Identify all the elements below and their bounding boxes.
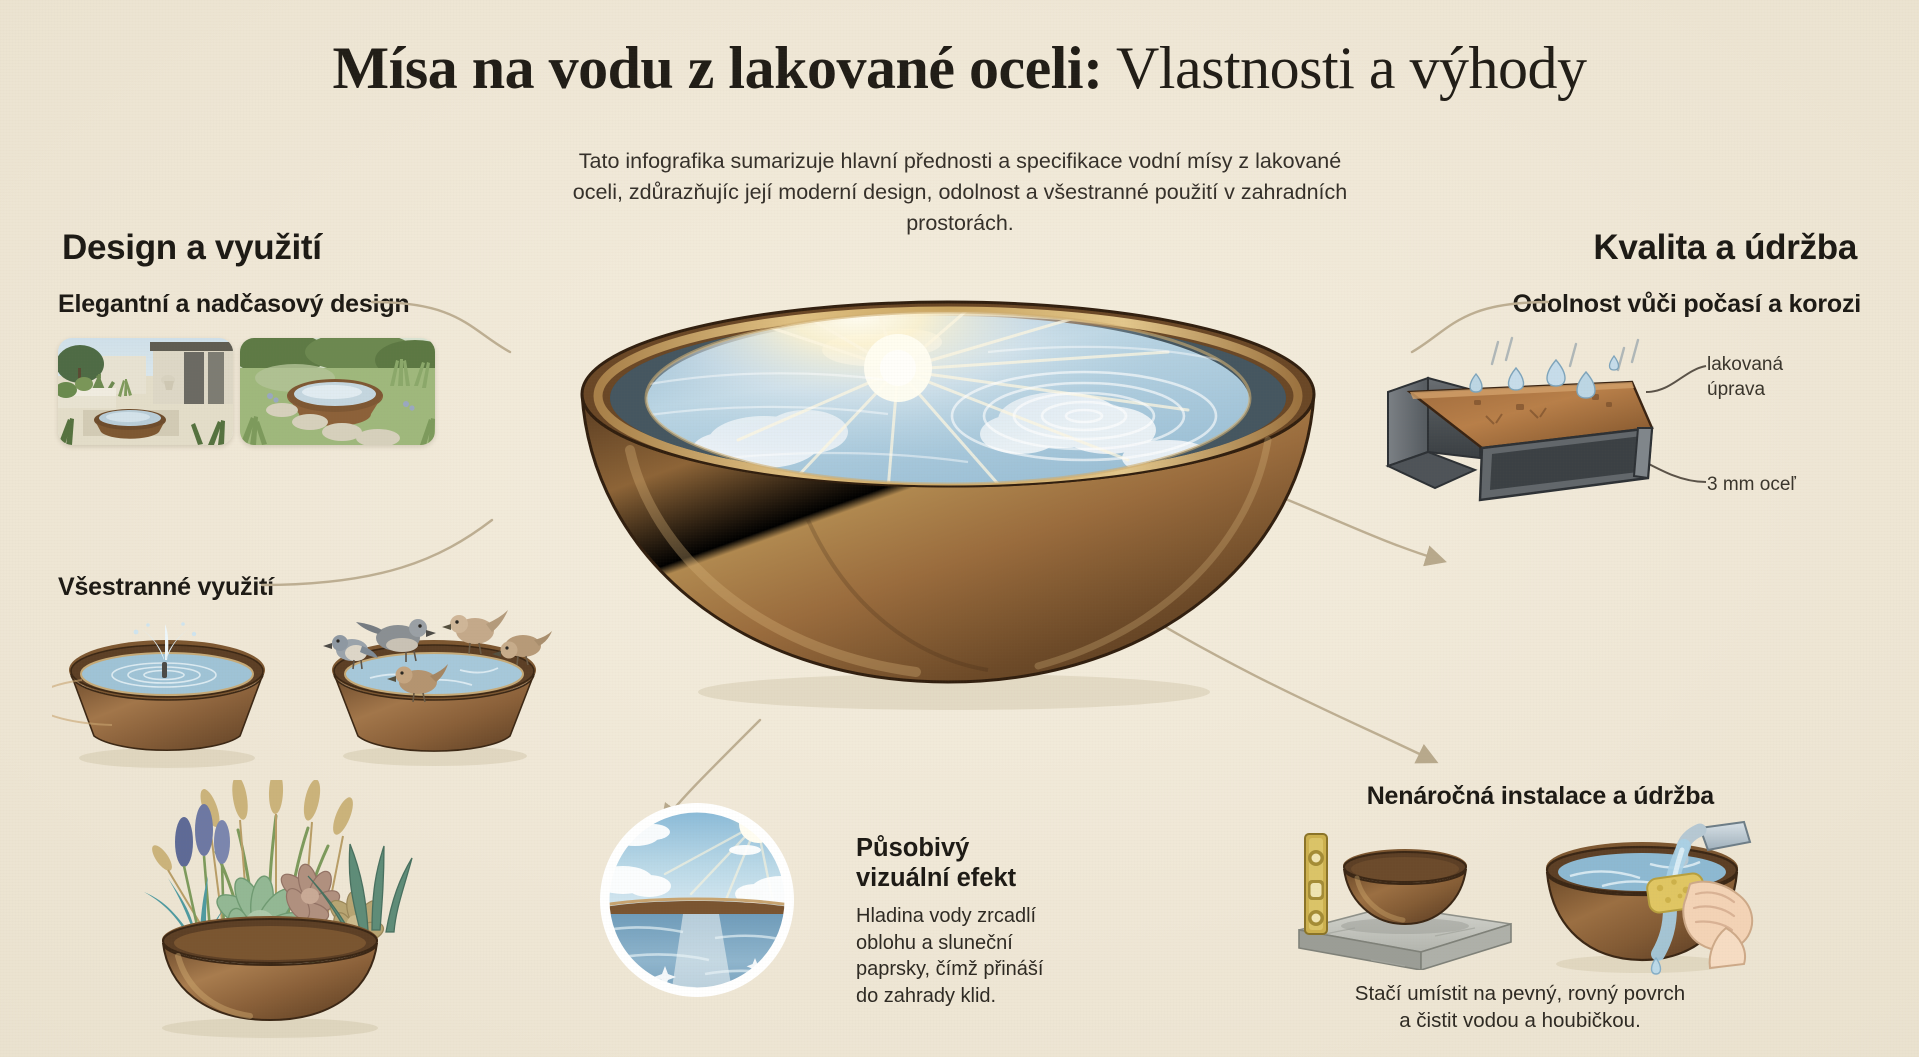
subheading-elegant-design: Elegantní a nadčasový design bbox=[58, 290, 409, 319]
visual-effect-body: Hladina vody zrcadlí oblohu a sluneční p… bbox=[856, 903, 1086, 1009]
annotation-coating-line1: lakovaná bbox=[1707, 354, 1783, 375]
central-water-bowl-illustration bbox=[568, 290, 1328, 710]
page-title-bold: Mísa na vodu z lakované oceli: bbox=[333, 35, 1103, 101]
sponge-cleaning-illustration bbox=[1530, 818, 1760, 978]
install-caption-line1: Stačí umístit na pevný, rovný povrch bbox=[1355, 982, 1685, 1005]
section-heading-quality: Kvalita a údržba bbox=[1593, 228, 1857, 268]
garden-photo-patio bbox=[58, 338, 233, 445]
page-subtitle: Tato infografika sumarizuje hlavní předn… bbox=[560, 146, 1360, 239]
visual-effect-body-line3: paprsky, čímž přináší bbox=[856, 958, 1043, 980]
visual-effect-body-line1: Hladina vody zrcadlí bbox=[856, 905, 1036, 927]
page-title: Mísa na vodu z lakované oceli: Vlastnost… bbox=[0, 34, 1919, 103]
level-and-slab-illustration bbox=[1295, 820, 1515, 970]
bird-bath-illustration bbox=[310, 598, 560, 768]
garden-photo-meadow bbox=[240, 338, 435, 445]
succulent-planter-illustration bbox=[100, 780, 440, 1040]
link-versatile bbox=[262, 520, 492, 585]
visual-effect-title-line1: Působivý bbox=[856, 834, 969, 862]
section-heading-design: Design a využití bbox=[62, 228, 322, 268]
annotation-steel-thickness: 3 mm oceľ bbox=[1707, 472, 1867, 497]
install-caption-line2: a čistit vodou a houbičkou. bbox=[1399, 1009, 1641, 1032]
visual-effect-circle-illustration bbox=[595, 798, 800, 1003]
coated-steel-plate-illustration bbox=[1380, 330, 1670, 510]
visual-effect-title: Působivý vizuální efekt bbox=[856, 833, 1016, 893]
visual-effect-body-line2: oblohu a sluneční bbox=[856, 932, 1013, 954]
subheading-weather-resistance: Odolnost vůči počasí a korozi bbox=[1513, 290, 1861, 319]
page-title-regular: Vlastnosti a výhody bbox=[1103, 35, 1587, 101]
subheading-versatile-use: Všestranné využití bbox=[58, 573, 274, 602]
subheading-easy-installation: Nenáročná instalace a údržba bbox=[1367, 782, 1714, 811]
visual-effect-body-line4: do zahrady klid. bbox=[856, 985, 996, 1007]
visual-effect-title-line2: vizuální efekt bbox=[856, 864, 1016, 892]
infographic-canvas: Mísa na vodu z lakované oceli: Vlastnost… bbox=[0, 0, 1919, 1057]
install-caption: Stačí umístit na pevný, rovný povrch a č… bbox=[1290, 980, 1750, 1034]
fountain-bowl-illustration bbox=[52, 618, 282, 768]
annotation-coating-line2: úprava bbox=[1707, 379, 1765, 400]
annotation-coating: lakovaná úprava bbox=[1707, 352, 1867, 402]
